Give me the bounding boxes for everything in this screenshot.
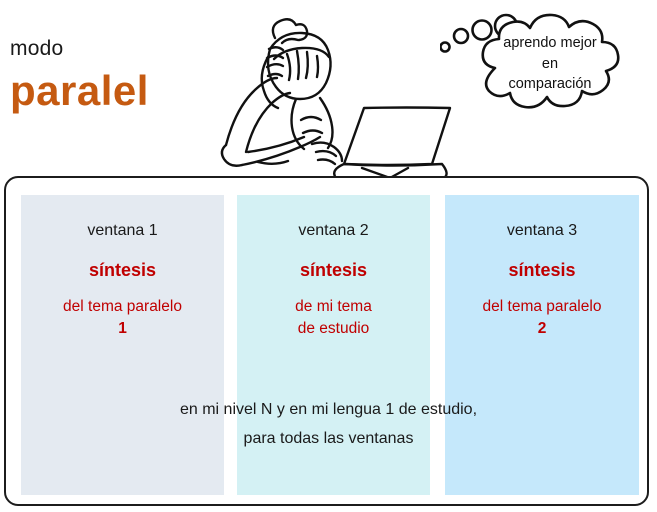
thought-line-1: aprendo mejor — [470, 33, 630, 54]
window-column-1[interactable]: ventana 1 síntesis del tema paralelo 1 — [21, 195, 224, 495]
windows-columns: ventana 1 síntesis del tema paralelo 1 v… — [6, 178, 651, 508]
window-2-label: ventana 2 — [237, 222, 430, 240]
parallel-mode-panel: ventana 1 síntesis del tema paralelo 1 v… — [4, 176, 649, 506]
window-3-label: ventana 3 — [445, 222, 639, 240]
window-2-detail-number: de estudio — [237, 318, 430, 340]
window-2-synthesis-label: síntesis — [237, 260, 430, 281]
window-column-3[interactable]: ventana 3 síntesis del tema paralelo 2 — [445, 195, 639, 495]
window-3-detail-number: 2 — [445, 318, 639, 340]
window-3-detail: del tema paralelo 2 — [445, 296, 639, 340]
thought-line-3: comparación — [470, 74, 630, 95]
mode-name-title: paralel — [10, 70, 149, 112]
window-1-detail-line: del tema paralelo — [63, 298, 182, 315]
person-studying-with-laptop-illustration — [212, 2, 462, 180]
window-1-synthesis-label: síntesis — [21, 260, 224, 281]
mode-label: modo — [10, 37, 63, 61]
thought-bubble-text: aprendo mejor en comparación — [470, 33, 630, 95]
window-1-detail: del tema paralelo 1 — [21, 296, 224, 340]
window-2-detail: de mi tema de estudio — [237, 296, 430, 340]
window-1-label: ventana 1 — [21, 222, 224, 240]
window-3-synthesis-label: síntesis — [445, 260, 639, 281]
window-3-detail-line: del tema paralelo — [483, 298, 602, 315]
window-2-detail-line: de mi tema — [295, 298, 372, 315]
slide-canvas: modo paralel — [0, 0, 657, 512]
thought-line-2: en — [470, 54, 630, 75]
window-1-detail-number: 1 — [21, 318, 224, 340]
window-column-2[interactable]: ventana 2 síntesis de mi tema de estudio — [237, 195, 430, 495]
